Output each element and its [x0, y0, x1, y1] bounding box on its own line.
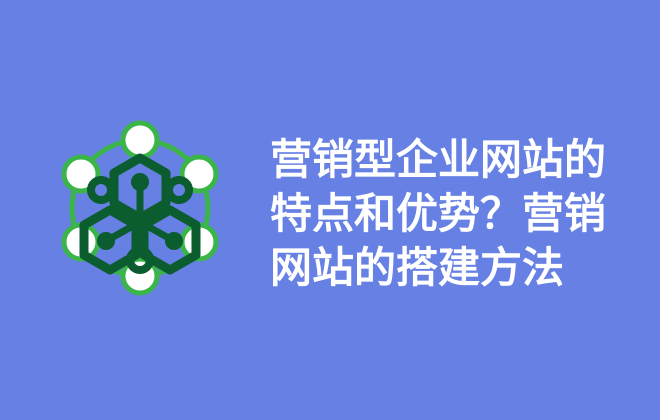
page-title: 营销型企业网站的特点和优势？营销网站的搭建方法 [270, 133, 636, 295]
logo-node-top [123, 123, 157, 157]
hexagon-network-logo-graphic [56, 118, 232, 302]
logo-small-ring-left [91, 180, 111, 200]
logo-small-ring-right [169, 180, 189, 200]
logo [56, 118, 232, 302]
logo-hexagon-top [114, 158, 166, 218]
banner: 营销型企业网站的特点和优势？营销网站的搭建方法 [0, 0, 660, 420]
logo-hexagon-cluster [84, 158, 196, 270]
